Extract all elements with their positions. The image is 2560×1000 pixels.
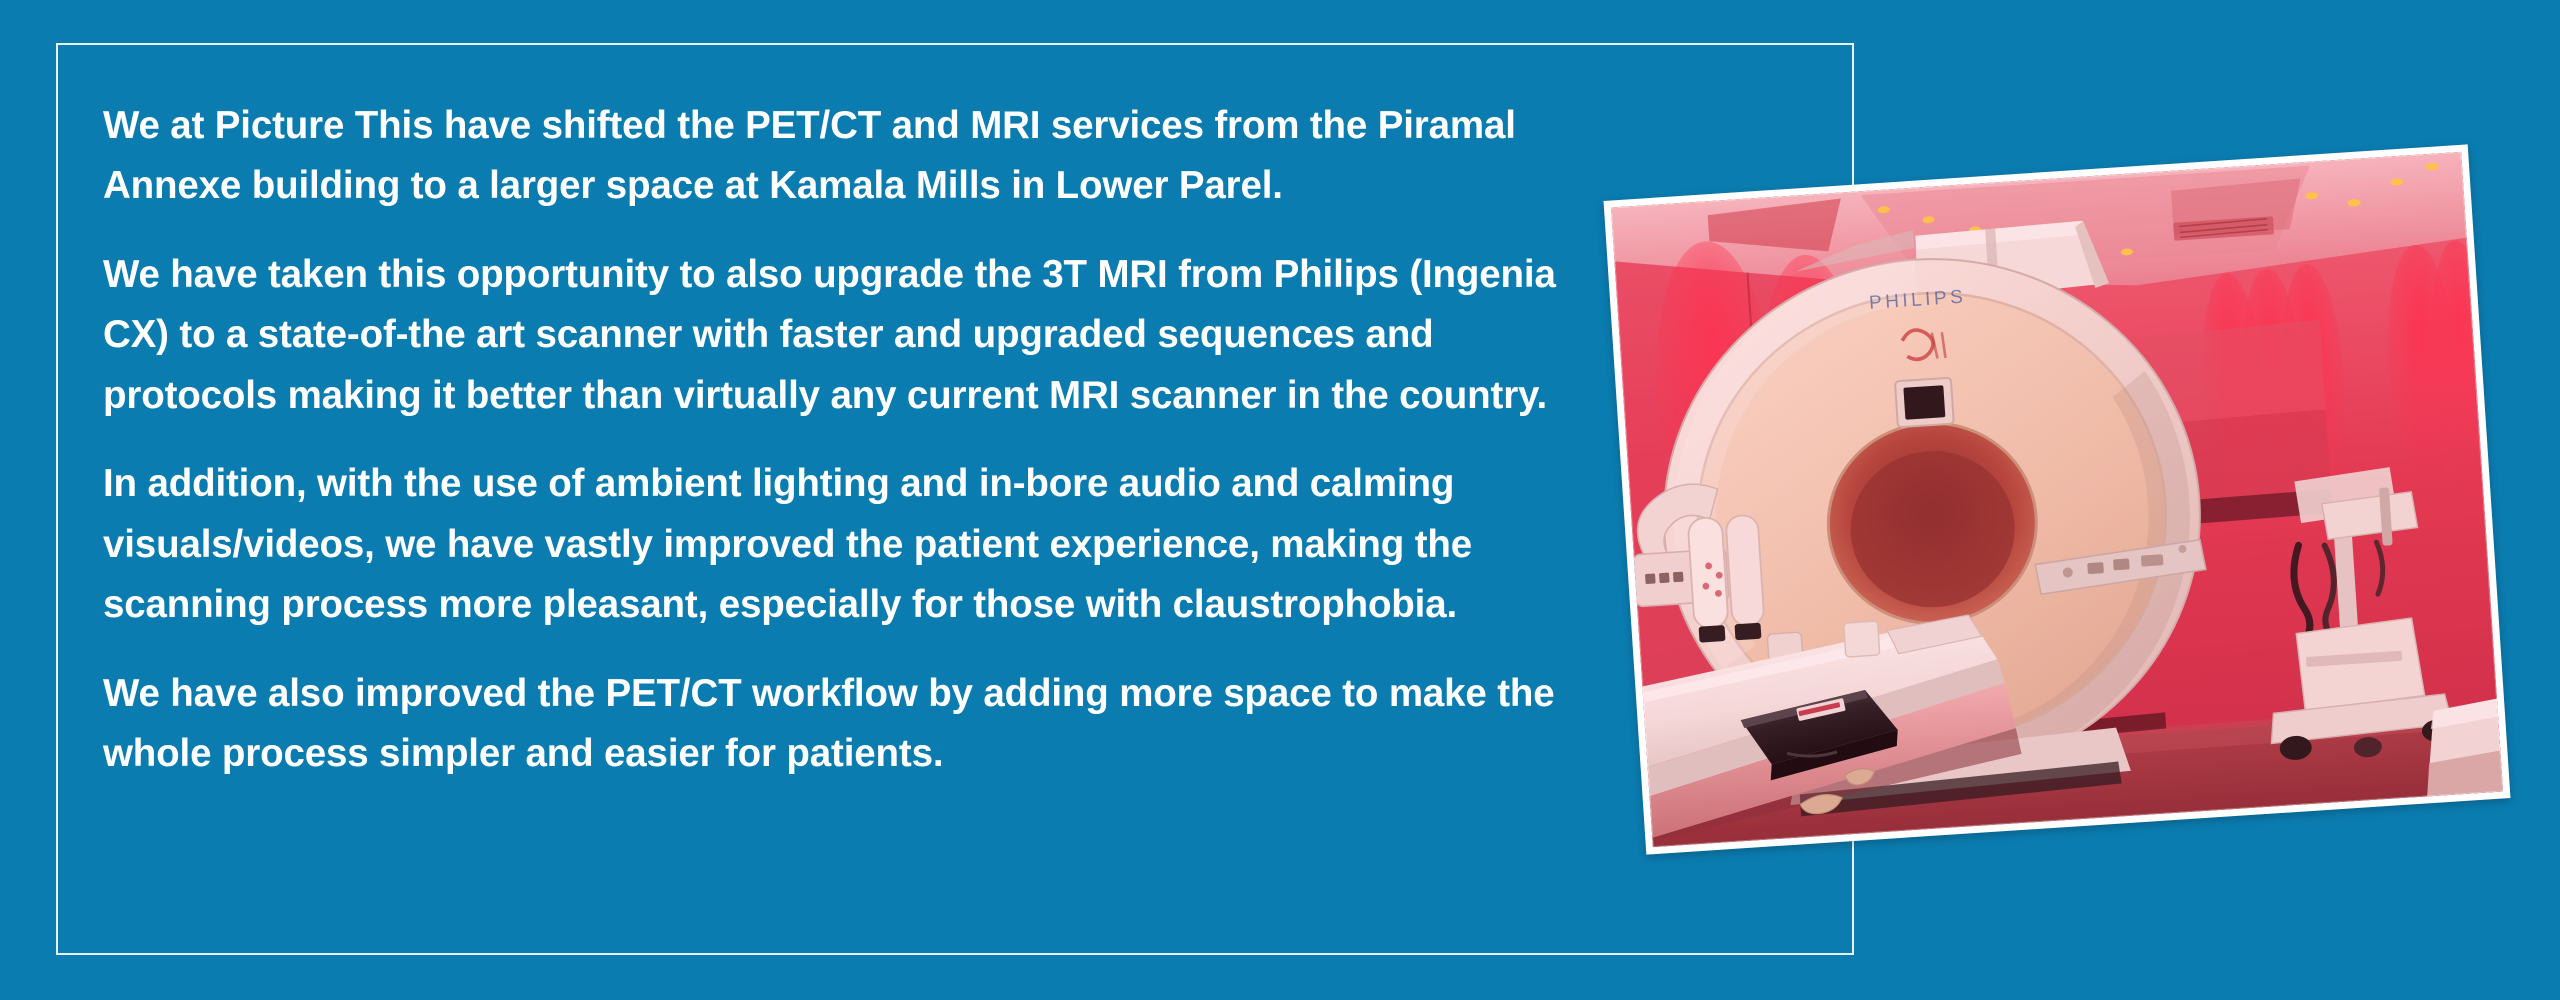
paragraph-3: In addition, with the use of ambient lig… [103,454,1593,635]
paragraph-4: We have also improved the PET/CT workflo… [103,664,1573,785]
mri-room-illustration: PHILIPS [1611,152,2503,847]
photo-image-area: PHILIPS [1611,152,2503,847]
slide-canvas: We at Picture This have shifted the PET/… [0,0,2560,1000]
photo-white-border: PHILIPS [1604,144,2511,854]
paragraph-2: We have taken this opportunity to also u… [103,245,1603,426]
body-text-column: We at Picture This have shifted the PET/… [103,96,1623,784]
paragraph-1: We at Picture This have shifted the PET/… [103,96,1613,217]
mri-room-photo: PHILIPS [1604,144,2511,854]
